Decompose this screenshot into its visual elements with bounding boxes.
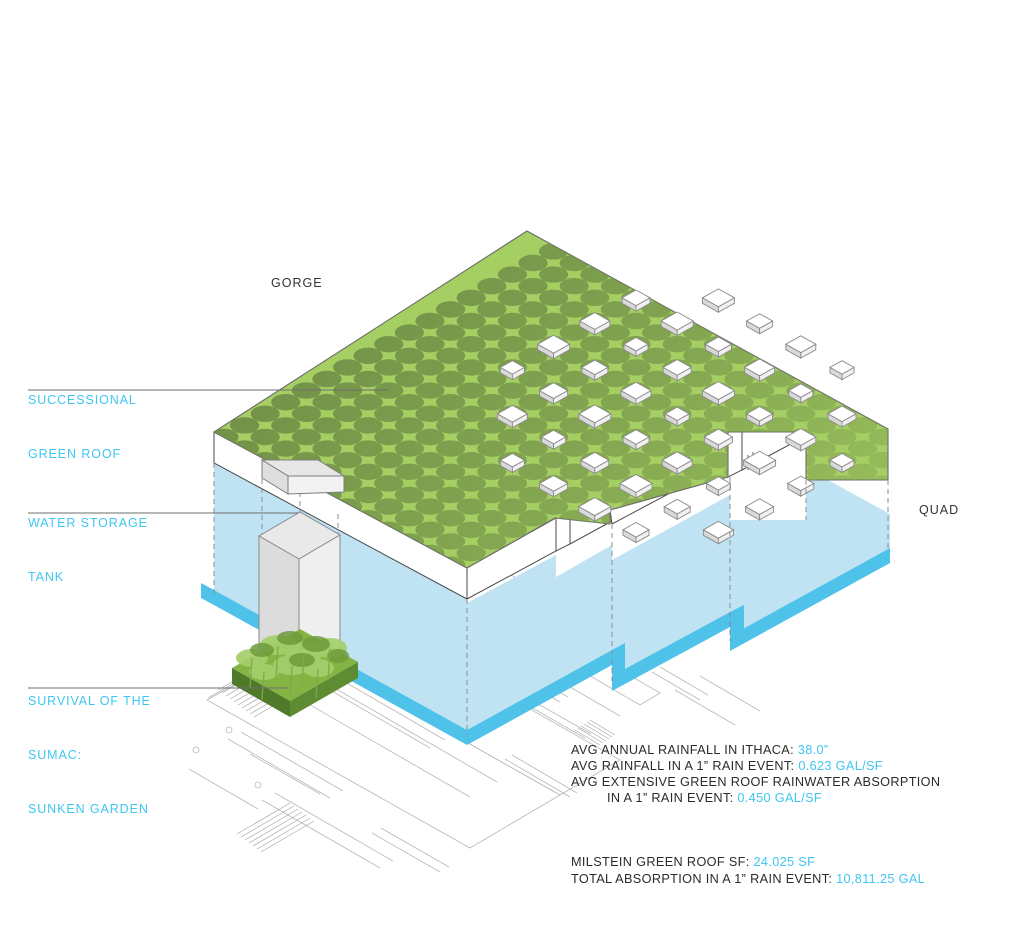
callout-water-storage-tank: WATER STORAGE TANK (28, 478, 148, 622)
callout-line-2: SUMAC: (28, 746, 151, 764)
stat-label: AVG ANNUAL RAINFALL IN ITHACA: (571, 743, 798, 757)
skylight (830, 361, 854, 380)
stat-total-absorption: TOTAL ABSORPTION IN A 1” RAIN EVENT: 10,… (571, 871, 940, 887)
stat-label: AVG EXTENSIVE GREEN ROOF RAINWATER ABSOR… (571, 775, 940, 789)
skylight (702, 289, 734, 312)
skylight (664, 499, 690, 519)
stat-avg-rainfall-rain-event: AVG RAINFALL IN A 1” RAIN EVENT: 0.623 G… (571, 758, 940, 774)
stat-label: IN A 1” RAIN EVENT: (607, 791, 737, 805)
stat-label: TOTAL ABSORPTION IN A 1” RAIN EVENT: (571, 872, 836, 886)
diagram-canvas: GORGE QUAD SUCCESSIONAL GREEN ROOF WATER… (0, 0, 1024, 925)
stat-avg-extensive-absorption-line-2: IN A 1” RAIN EVENT: 0.450 GAL/SF (571, 790, 940, 806)
statistics-block: AVG ANNUAL RAINFALL IN ITHACA: 38.0”AVG … (571, 709, 940, 920)
sunken-garden (232, 629, 358, 717)
statistics-group-totals: MILSTEIN GREEN ROOF SF: 24.025 SFTOTAL A… (571, 854, 940, 887)
stat-label: MILSTEIN GREEN ROOF SF: (571, 855, 754, 869)
skylight (786, 336, 816, 358)
callout-survival-of-the-sumac: SURVIVAL OF THE SUMAC: SUNKEN GARDEN (28, 656, 151, 854)
stat-value: 10,811.25 GAL (836, 872, 925, 886)
callout-line-3: SUNKEN GARDEN (28, 800, 151, 818)
skylight (746, 499, 774, 520)
callout-line-1: SUCCESSIONAL (28, 391, 137, 409)
stat-milstein-green-roof-sf: MILSTEIN GREEN ROOF SF: 24.025 SF (571, 854, 940, 870)
stat-value: 0.450 GAL/SF (737, 791, 822, 805)
stat-avg-annual-rainfall: AVG ANNUAL RAINFALL IN ITHACA: 38.0” (571, 742, 940, 758)
stat-value: 24.025 SF (754, 855, 816, 869)
callout-line-2: TANK (28, 568, 148, 586)
statistics-group-primary: AVG ANNUAL RAINFALL IN ITHACA: 38.0”AVG … (571, 742, 940, 807)
skylight (623, 523, 649, 543)
callout-line-2: GREEN ROOF (28, 445, 137, 463)
stat-value: 0.623 GAL/SF (798, 759, 883, 773)
label-gorge: GORGE (271, 276, 323, 290)
callout-line-1: WATER STORAGE (28, 514, 148, 532)
label-quad: QUAD (919, 503, 959, 517)
stat-value: 38.0” (798, 743, 829, 757)
skylight (747, 314, 773, 334)
stat-label: AVG RAINFALL IN A 1” RAIN EVENT: (571, 759, 798, 773)
stat-avg-extensive-absorption-line-1: AVG EXTENSIVE GREEN ROOF RAINWATER ABSOR… (571, 774, 940, 790)
callout-line-1: SURVIVAL OF THE (28, 692, 151, 710)
